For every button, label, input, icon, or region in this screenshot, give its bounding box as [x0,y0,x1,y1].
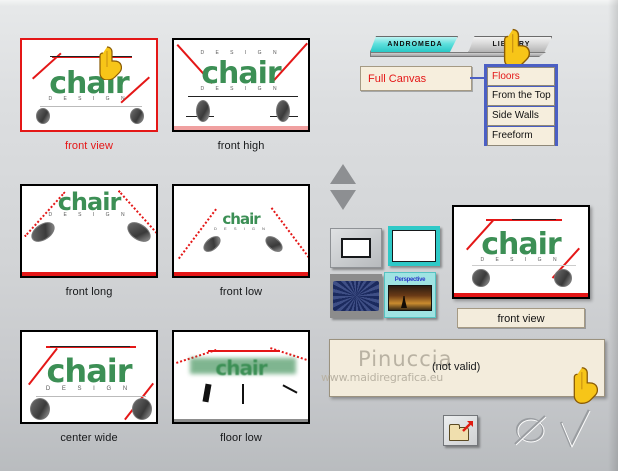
tab-andromeda[interactable]: ANDROMEDA [370,36,458,52]
preset-thumb-front-low[interactable]: chair D E S I G N [172,184,310,278]
preview-name-label: front view [457,308,585,328]
watermark-panel: Pinuccia www.maidiregrafica.eu (not vali… [329,339,605,397]
preset-thumb-center-wide[interactable]: chair D E S I G N [20,330,158,424]
cancel-button[interactable] [510,410,550,450]
preset-item-front-view[interactable]: chair D E S I G N front view [20,38,158,152]
preset-thumb-front-view[interactable]: chair D E S I G N [20,38,158,132]
preset-item-front-low[interactable]: chair D E S I G N front low [172,184,310,298]
menu-item-freeform[interactable]: Freeform [487,127,555,146]
perspective-thumbnail-image [388,285,432,311]
tab-bar: ANDROMEDA LIBRARY [370,36,552,56]
open-folder-button[interactable] [443,415,478,446]
full-canvas-field[interactable]: Full Canvas [360,66,472,91]
ok-button[interactable] [558,408,592,450]
menu-item-floors[interactable]: Floors [487,67,555,86]
preset-item-floor-low[interactable]: chair floor low [172,330,310,444]
menu-item-side-walls[interactable]: Side Walls [487,107,555,126]
preset-label-floor-low: floor low [172,432,310,444]
starburst-icon [333,281,379,311]
perspective-label: Perspective [388,276,432,284]
preset-label-center-wide: center wide [20,432,158,444]
watermark-url: www.maidiregrafica.eu [321,371,443,384]
preset-label-front-long: front long [20,286,158,298]
preset-item-front-high[interactable]: D E S I G N chair D E S I G N front high [172,38,310,152]
step-arrows [330,164,358,218]
menu-item-from-the-top[interactable]: From the Top [487,87,555,106]
red-arrow-icon [461,419,475,433]
preset-thumb-floor-low[interactable]: chair [172,330,310,424]
andromeda-perspective-window: chair D E S I G N front view [0,0,618,471]
preset-thumbnail-grid: chair D E S I G N front view [0,0,312,471]
arrow-up-icon[interactable] [330,164,356,184]
preview-canvas[interactable]: chair D E S I G N [452,205,590,299]
window-right-shadow [608,0,618,471]
grid-rect-button[interactable] [330,228,382,268]
preset-item-front-long[interactable]: chair D E S I G N front long [20,184,158,298]
arrow-down-icon[interactable] [330,190,356,210]
preset-label-front-low: front low [172,286,310,298]
preset-label-front-view: front view [20,140,158,152]
floors-dropdown-menu[interactable]: Floors From the Top Side Walls Freeform [484,64,558,146]
blank-rectangle-icon [392,230,436,262]
burst-pattern-button[interactable] [330,274,382,318]
perspective-preview-button[interactable]: Perspective [384,272,436,318]
blank-canvas-button[interactable] [388,226,440,266]
preset-thumb-front-long[interactable]: chair D E S I G N [20,184,158,278]
preset-thumb-front-high[interactable]: D E S I G N chair D E S I G N [172,38,310,132]
preset-label-front-high: front high [172,140,310,152]
tab-library[interactable]: LIBRARY [468,36,552,52]
rectangle-icon [341,238,371,258]
not-valid-status: (not valid) [432,361,480,373]
preset-item-center-wide[interactable]: chair D E S I G N center wide [20,330,158,444]
